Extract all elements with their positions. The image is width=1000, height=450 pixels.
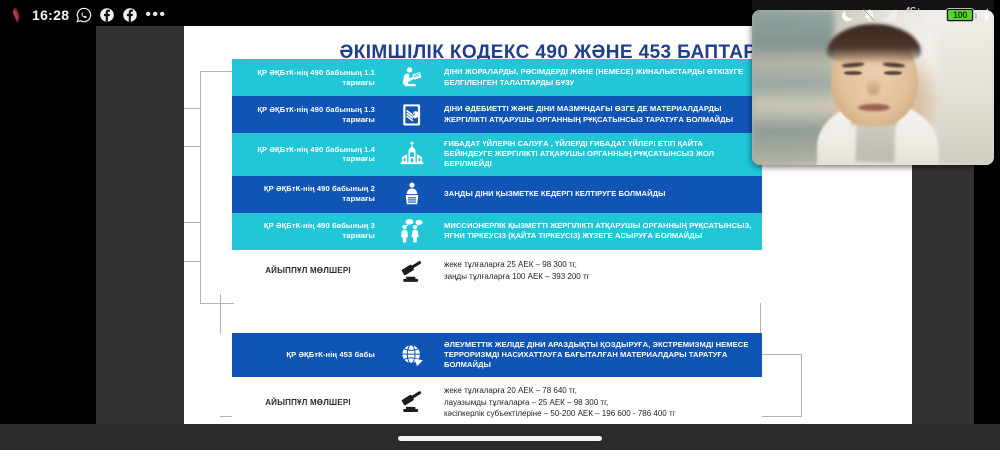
battery-level: 100 [953,10,967,20]
article-reference: ҚР ӘҚБтК-нің 490 бабының 2 тармағы [232,176,384,213]
pip-person-eye [844,71,862,75]
praying-person-icon [384,59,440,96]
connector-line [200,71,201,303]
rule-text: ДІНИ ӘДЕБИЕТТІ ЖӘНЕ ДІНИ МАЗМҰНДАҒЫ ӨЗГЕ… [440,96,762,133]
table-row[interactable]: ҚР ӘҚБтК-нің 490 бабының 1.4 тармағы [232,133,762,176]
rule-text: ДІНИ ЖОРАЛАРДЫ, РӘСІМДЕРДІ ЖӘНЕ (НЕМЕСЕ)… [440,59,762,96]
status-bar-left: 16:28 ••• [10,0,166,30]
article-reference: ҚР ӘҚБтК-нің 490 бабының 1.3 тармағы [232,96,384,133]
globe-arrow-icon [384,333,440,377]
phone-screen: ӘКІМШІЛІК КОДЕКС 490 ЖӘНЕ 453 БАПТАР ҚР … [0,0,1000,450]
pip-person-eye [884,71,902,75]
connector-line [184,108,201,109]
status-time: 16:28 [32,8,69,22]
fine-line: заңды тұлғаларға 100 АЕК – 393 200 тг [444,271,754,283]
pip-person-collar [855,121,895,163]
article-reference: ҚР ӘҚБтК-нің 453 бабы [232,333,384,377]
fine-amount-block-490: АЙЫППҰЛ МӨЛШЕРІ жеке тұлғаларға 25 АЕК –… [232,254,762,288]
connector-line [200,303,234,304]
fine-amount-block-453: АЙЫППҰЛ МӨЛШЕРІ жеке тұлғаларға 20 АЕК –… [232,381,762,424]
table-row[interactable]: ҚР ӘҚБтК-нің 490 бабының 2 тармағы ЗАҢДЫ… [232,176,762,213]
table-row[interactable]: ҚР ӘҚБтК-нің 490 бабының 3 тармағы МИССИ… [232,213,762,250]
table-row[interactable]: ҚР ӘҚБтК-нің 490 бабының 1.1 тармағы ДІН… [232,59,762,96]
table-row[interactable]: ҚР ӘҚБтК-нің 453 бабы ӘЛЕ [232,333,762,377]
connector-line [801,354,802,416]
code-453-section: ҚР ӘҚБтК-нің 453 бабы ӘЛЕ [232,333,762,377]
fine-label: АЙЫППҰЛ МӨЛШЕРІ [232,254,384,288]
fine-label: АЙЫППҰЛ МӨЛШЕРІ [232,381,384,424]
navigation-bar [0,424,1000,450]
pip-background-wall [936,10,994,165]
charging-bolt-icon [981,8,992,23]
connector-line [184,222,201,223]
connector-line [760,354,802,355]
connector-line [184,146,201,147]
rule-text: ӘЛЕУМЕТТІК ЖЕЛІДЕ ДІНИ АРАЗДЫҚТЫ ҚОЗДЫРУ… [440,333,762,377]
overflow-dots-icon[interactable]: ••• [145,7,166,23]
connector-line [200,71,234,72]
podium-speaker-icon [384,176,440,213]
home-gesture-bar[interactable] [398,436,602,441]
fine-line: жеке тұлғаларға 25 АЕК – 98 300 тг, [444,259,754,271]
connector-line [184,261,201,262]
app-badge-icon [10,7,25,24]
rule-text: МИССИОНЕРЛІК ҚЫЗМЕТТІ ЖЕРГІЛІКТІ АТҚАРУШ… [440,213,762,250]
fine-line: жеке тұлғаларға 20 АЕК – 78 640 тг, [444,385,754,397]
two-people-talking-icon [384,213,440,250]
church-icon [384,133,440,176]
left-black-panel [0,0,96,450]
rule-text: ҒИБАДАТ ҮЙЛЕРІН САЛУҒА , ҮЙЛЕРДІ ҒИБАДАТ… [440,133,762,176]
code-490-rows: ҚР ӘҚБтК-нің 490 бабының 1.1 тармағы ДІН… [232,59,762,288]
article-reference: ҚР ӘҚБтК-нің 490 бабының 1.4 тармағы [232,133,384,176]
book-hand-icon [384,96,440,133]
fine-line: кәсіпкерлік субъектілеріне – 50-200 АЕК … [444,408,754,420]
gavel-icon [384,381,440,424]
facebook-icon[interactable] [122,7,138,23]
facebook-icon[interactable] [99,7,115,23]
rule-text: ЗАҢДЫ ДІНИ ҚЫЗМЕТКЕ КЕДЕРГІ КЕЛТІРУГЕ БО… [440,176,762,213]
signal-bars-icon [884,9,899,22]
article-reference: ҚР ӘҚБтК-нің 490 бабының 1.1 тармағы [232,59,384,96]
do-not-disturb-moon-icon [840,8,855,23]
article-reference: ҚР ӘҚБтК-нің 490 бабының 3 тармағы [232,213,384,250]
battery-indicator: 100 [946,8,974,22]
video-call-pip[interactable] [752,10,994,165]
fine-amounts: жеке тұлғаларға 20 АЕК – 78 640 тг, лауа… [440,381,762,424]
connector-line [220,294,221,334]
network-type-label: 4G+ [906,7,921,15]
left-grey-panel [96,26,184,424]
status-bar-right: 4G+ 100 [840,0,992,30]
bell-muted-icon [862,8,877,23]
table-row[interactable]: ҚР ӘҚБтК-нің 490 бабының 1.3 тармағы ДІН… [232,96,762,133]
whatsapp-icon[interactable] [76,7,92,23]
fine-line: лауазымды тұлғаларға – 25 АЕК – 98 300 т… [444,397,754,409]
gavel-icon [384,254,440,288]
signal-bars-icon [924,9,939,22]
pip-person-mouth [858,104,889,111]
fine-amounts: жеке тұлғаларға 25 АЕК – 98 300 тг, заңд… [440,254,762,288]
